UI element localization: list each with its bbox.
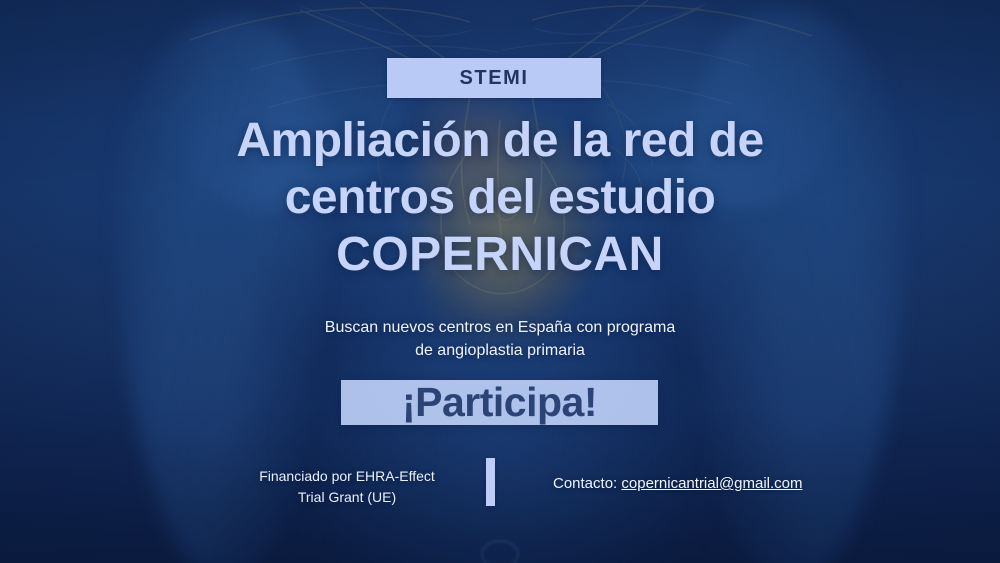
title-line-3: COPERNICAN	[0, 226, 1000, 283]
participa-label: ¡Participa!	[402, 379, 597, 426]
stemi-badge-label: STEMI	[459, 67, 528, 90]
poster-slide: STEMI Ampliación de la red de centros de…	[0, 0, 1000, 563]
title-line-2: centros del estudio	[0, 169, 1000, 226]
contact-label: Contacto:	[553, 475, 617, 492]
contact-email-link[interactable]: copernicantrial@gmail.com	[621, 475, 802, 492]
participa-callout[interactable]: ¡Participa!	[341, 380, 658, 425]
subtitle: Buscan nuevos centros en España con prog…	[0, 316, 1000, 362]
funding-line-1: Financiado por EHRA-Effect	[247, 466, 447, 487]
subtitle-line-2: de angioplastia primaria	[0, 339, 1000, 362]
contact-info: Contacto: copernicantrial@gmail.com	[553, 473, 803, 494]
subtitle-line-1: Buscan nuevos centros en España con prog…	[0, 316, 1000, 339]
title-line-1: Ampliación de la red de	[0, 112, 1000, 169]
funding-note: Financiado por EHRA-Effect Trial Grant (…	[247, 466, 447, 508]
funding-line-2: Trial Grant (UE)	[247, 487, 447, 508]
stemi-badge: STEMI	[387, 58, 601, 98]
page-title: Ampliación de la red de centros del estu…	[0, 112, 1000, 283]
poster-content: STEMI Ampliación de la red de centros de…	[0, 0, 1000, 563]
vertical-divider	[486, 458, 495, 506]
